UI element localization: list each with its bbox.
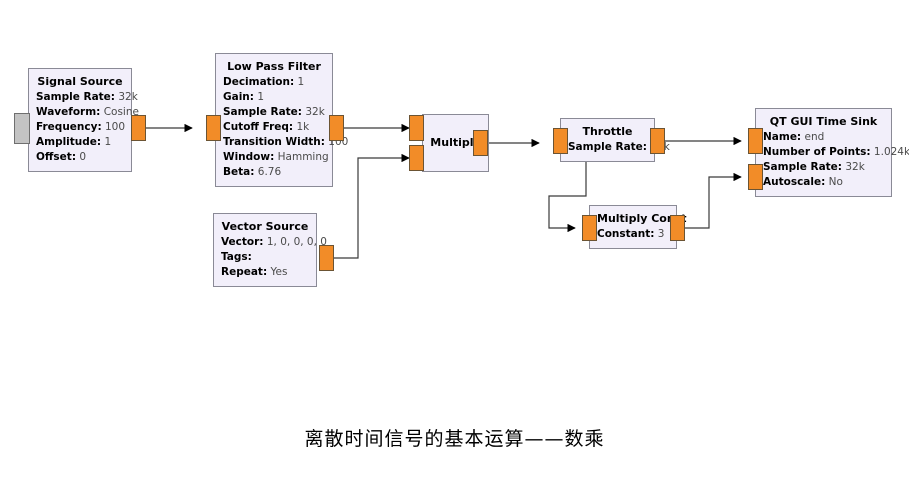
block-throttle[interactable]: Throttle Sample Rate: 32k [560, 118, 655, 162]
block-vector-source-param-0: Vector: 1, 0, 0, 0, 0 [221, 235, 309, 250]
block-throttle-param-0: Sample Rate: 32k [568, 140, 647, 155]
block-signal-source-param-2: Frequency: 100 [36, 120, 124, 135]
block-low-pass-filter-param-5: Window: Hamming [223, 150, 325, 165]
block-vector-source-title: Vector Source [221, 219, 309, 234]
block-low-pass-filter-param-3: Cutoff Freq: 1k [223, 120, 325, 135]
port-signal-source-out[interactable] [131, 115, 146, 141]
block-qt-gui-time-sink-param-1: Number of Points: 1.024k [763, 145, 884, 160]
block-low-pass-filter-param-6: Beta: 6.76 [223, 165, 325, 180]
block-low-pass-filter-param-4: Transition Width: 100 [223, 135, 325, 150]
port-throttle-in[interactable] [553, 128, 568, 154]
port-multiply-in-0[interactable] [409, 115, 424, 141]
wire-multiply-const-to-time-sink [685, 177, 741, 228]
port-signal-source-message-in[interactable] [14, 113, 30, 144]
block-qt-gui-time-sink-param-0: Name: end [763, 130, 884, 145]
block-signal-source-param-0: Sample Rate: 32k [36, 90, 124, 105]
block-qt-gui-time-sink-title: QT GUI Time Sink [763, 114, 884, 129]
block-low-pass-filter-param-0: Decimation: 1 [223, 75, 325, 90]
block-multiply-const-param-0: Constant: 3 [597, 227, 669, 242]
block-signal-source[interactable]: Signal Source Sample Rate: 32k Waveform:… [28, 68, 132, 172]
block-qt-gui-time-sink-param-2: Sample Rate: 32k [763, 160, 884, 175]
block-throttle-title: Throttle [568, 124, 647, 139]
port-vector-source-out[interactable] [319, 245, 334, 271]
figure-caption: 离散时间信号的基本运算——数乘 [0, 424, 909, 451]
port-low-pass-filter-out[interactable] [329, 115, 344, 141]
port-low-pass-filter-in[interactable] [206, 115, 221, 141]
block-multiply-const[interactable]: Multiply Const Constant: 3 [589, 205, 677, 249]
block-low-pass-filter-param-2: Sample Rate: 32k [223, 105, 325, 120]
block-multiply-const-title: Multiply Const [597, 211, 669, 226]
block-signal-source-param-4: Offset: 0 [36, 150, 124, 165]
wire-vector-source-to-multiply [334, 158, 409, 258]
block-vector-source-param-1: Tags: [221, 250, 309, 265]
block-qt-gui-time-sink-param-3: Autoscale: No [763, 175, 884, 190]
block-signal-source-param-1: Waveform: Cosine [36, 105, 124, 120]
block-low-pass-filter-param-1: Gain: 1 [223, 90, 325, 105]
block-signal-source-param-3: Amplitude: 1 [36, 135, 124, 150]
block-low-pass-filter-title: Low Pass Filter [223, 59, 325, 74]
block-signal-source-title: Signal Source [36, 74, 124, 89]
port-throttle-out[interactable] [650, 128, 665, 154]
flowgraph-canvas[interactable]: Signal Source Sample Rate: 32k Waveform:… [0, 0, 909, 488]
block-low-pass-filter[interactable]: Low Pass Filter Decimation: 1 Gain: 1 Sa… [215, 53, 333, 187]
block-qt-gui-time-sink[interactable]: QT GUI Time Sink Name: end Number of Poi… [755, 108, 892, 197]
block-vector-source-param-2: Repeat: Yes [221, 265, 309, 280]
port-time-sink-in-1[interactable] [748, 164, 763, 190]
port-multiply-in-1[interactable] [409, 145, 424, 171]
block-vector-source[interactable]: Vector Source Vector: 1, 0, 0, 0, 0 Tags… [213, 213, 317, 287]
port-multiply-const-in[interactable] [582, 215, 597, 241]
port-multiply-const-out[interactable] [670, 215, 685, 241]
connection-layer [0, 0, 909, 488]
port-time-sink-in-0[interactable] [748, 128, 763, 154]
port-multiply-out[interactable] [473, 130, 488, 156]
